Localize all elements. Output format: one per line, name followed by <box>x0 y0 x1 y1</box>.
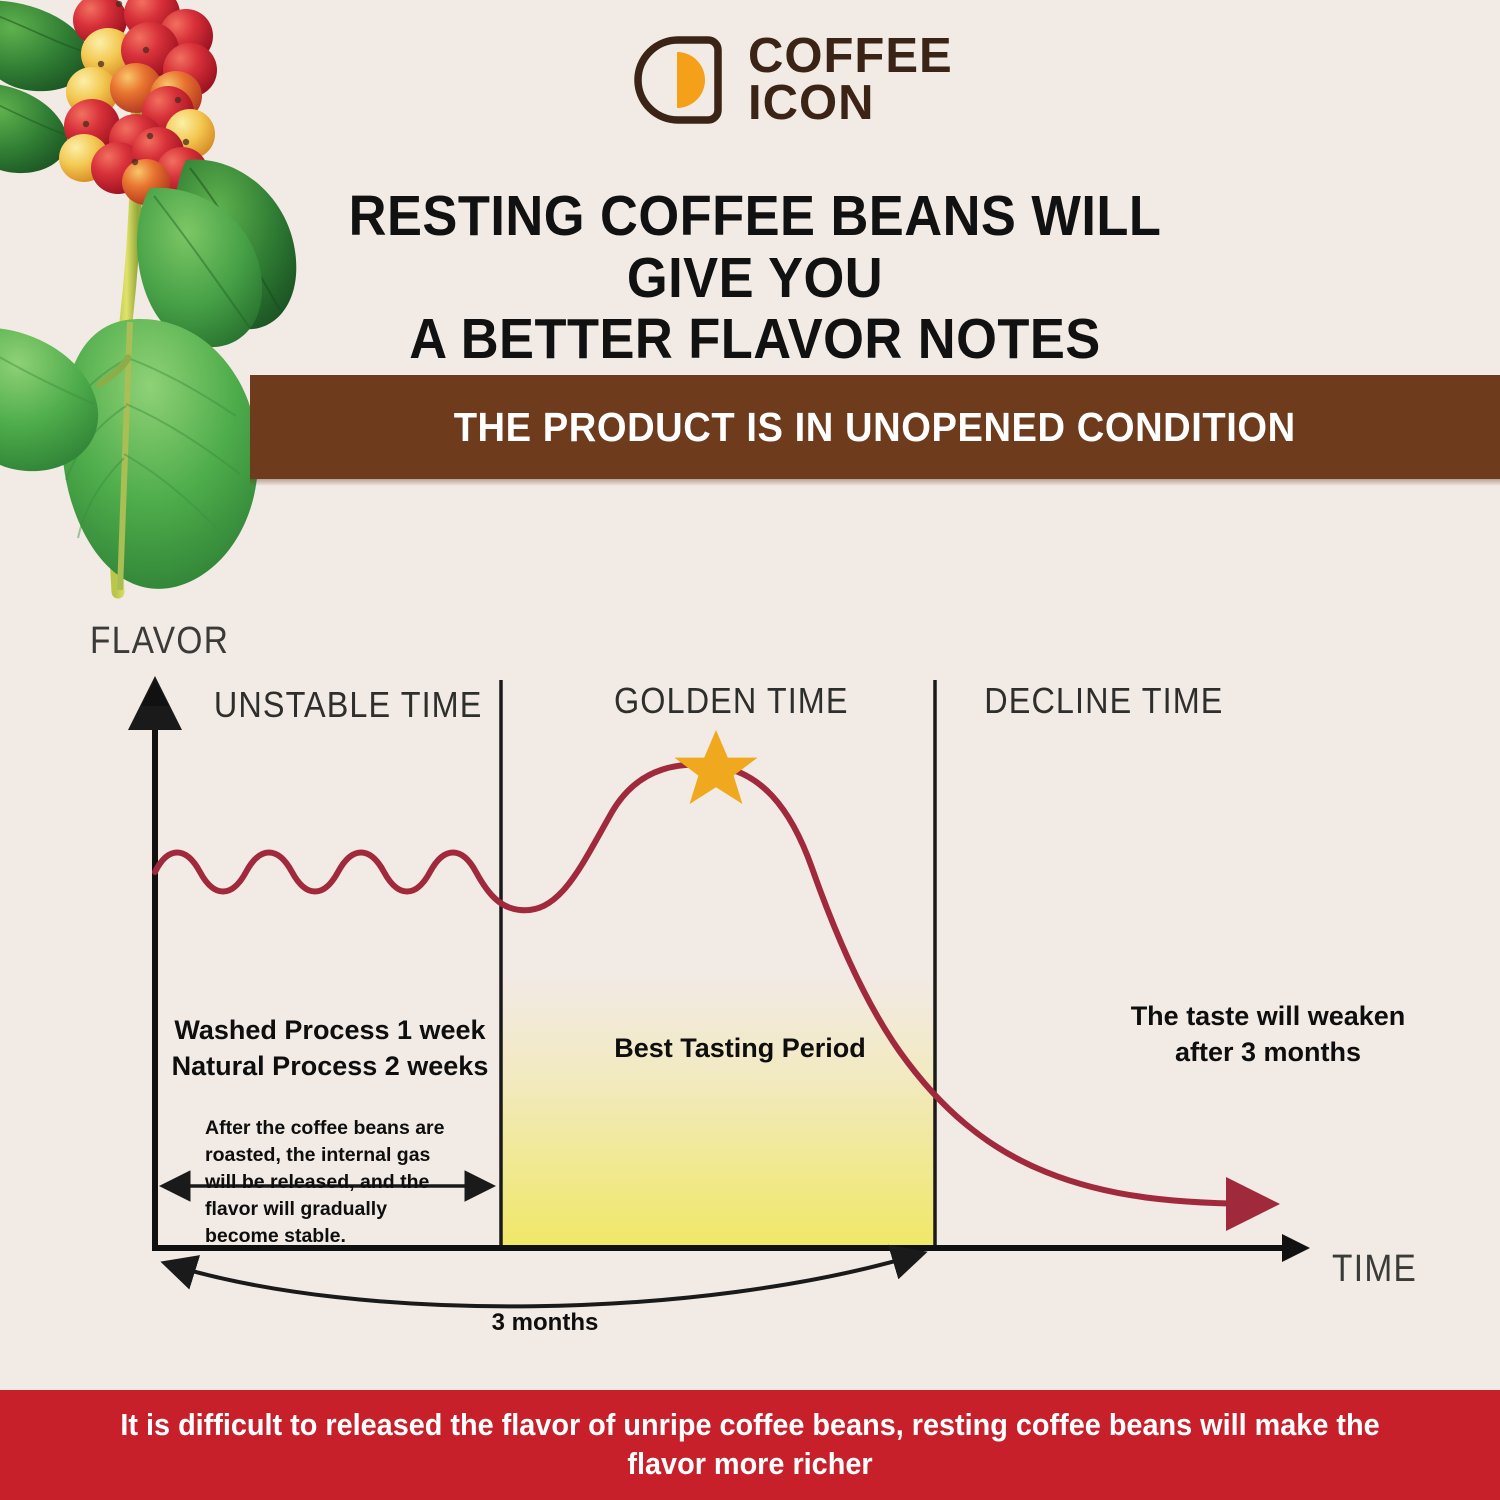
annotation-best-period: Best Tasting Period <box>560 1031 920 1067</box>
coffee-bean-square-icon <box>630 32 726 128</box>
page-title-line1: RESTING COFFEE BEANS WILL GIVE YOU <box>290 186 1219 309</box>
banner-shadow <box>250 479 1500 486</box>
annotation-roast-detail: After the coffee beans are roasted, the … <box>205 1115 455 1250</box>
annotation-taste-weaken: The taste will weaken after 3 months <box>1108 999 1428 1070</box>
brand-name-line1: COFFEE <box>748 33 953 80</box>
x-axis-arrowhead <box>1282 1234 1310 1262</box>
annotation-weaken-line2: after 3 months <box>1108 1035 1428 1071</box>
phase-label-decline: DECLINE TIME <box>984 680 1223 722</box>
page-title: RESTING COFFEE BEANS WILL GIVE YOU A BET… <box>290 186 1219 371</box>
footer-banner-text: It is difficult to released the flavor o… <box>80 1406 1419 1484</box>
brand-name-line2: ICON <box>748 80 953 127</box>
annotation-process-line2: Natural Process 2 weeks <box>165 1049 495 1085</box>
brand-wordmark: COFFEE ICON <box>748 33 953 126</box>
best-period-band <box>502 978 935 1246</box>
three-months-span-arrow <box>168 1254 920 1306</box>
annotation-three-months: 3 months <box>440 1307 650 1339</box>
subtitle-banner: THE PRODUCT IS IN UNOPENED CONDITION <box>250 375 1500 479</box>
y-axis-label: FLAVOR <box>90 620 229 663</box>
phase-label-golden: GOLDEN TIME <box>614 680 849 722</box>
phase-label-unstable: UNSTABLE TIME <box>214 684 482 726</box>
annotation-process: Washed Process 1 week Natural Process 2 … <box>165 1013 495 1084</box>
x-axis-label: TIME <box>1332 1248 1417 1291</box>
footer-banner: It is difficult to released the flavor o… <box>0 1390 1500 1500</box>
annotation-weaken-line1: The taste will weaken <box>1108 999 1428 1035</box>
annotation-process-line1: Washed Process 1 week <box>165 1013 495 1049</box>
y-axis-arrowhead <box>141 680 169 706</box>
coffee-branch-illustration <box>0 0 300 612</box>
infographic-root: COFFEE ICON RESTING COFFEE BEANS WILL GI… <box>0 0 1500 1500</box>
subtitle-banner-text: THE PRODUCT IS IN UNOPENED CONDITION <box>454 404 1296 451</box>
page-title-line2: A BETTER FLAVOR NOTES <box>290 309 1219 371</box>
brand-logo: COFFEE ICON <box>630 32 953 128</box>
